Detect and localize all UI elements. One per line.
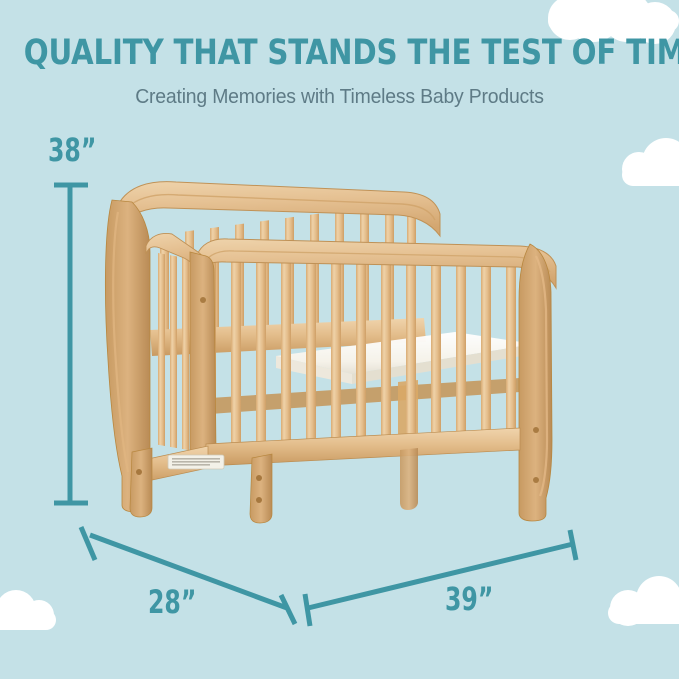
page-subtitle: Creating Memories with Timeless Baby Pro… bbox=[10, 86, 669, 109]
crib-left-end-top-rail bbox=[146, 234, 205, 279]
screw-icon bbox=[136, 469, 142, 475]
width-line bbox=[308, 544, 573, 608]
crib-leg-center-front bbox=[250, 454, 272, 523]
crib-center-support bbox=[398, 380, 418, 452]
crib-back-lower-rail bbox=[150, 318, 426, 356]
crib-left-end-slats bbox=[158, 240, 189, 460]
crib-mattress-support-rail bbox=[210, 378, 520, 414]
cloud-body bbox=[608, 602, 679, 624]
screw-icon bbox=[533, 427, 539, 433]
crib-leg-rear-center bbox=[400, 448, 418, 510]
cloud-body bbox=[622, 164, 679, 186]
product-safety-label bbox=[168, 455, 224, 469]
width-tick-left bbox=[305, 594, 310, 626]
headboard-grain bbox=[122, 195, 435, 220]
dimension-label-width: 39” bbox=[445, 580, 493, 618]
crib-right-sleigh-post bbox=[519, 244, 552, 521]
dimension-line-height bbox=[54, 185, 88, 503]
right-post-grain bbox=[536, 256, 547, 496]
screw-icon bbox=[200, 297, 206, 303]
screw-icon bbox=[256, 475, 262, 481]
screw-icon bbox=[533, 477, 539, 483]
crib-left-bottom-rail bbox=[134, 446, 208, 484]
cloud-body bbox=[548, 10, 679, 32]
dimension-label-height: 38” bbox=[48, 131, 96, 169]
width-tick-right bbox=[570, 530, 576, 560]
crib-leg-left-front bbox=[130, 448, 152, 517]
crib-front-slats-foreground bbox=[206, 244, 516, 470]
cloud-right-upper bbox=[622, 138, 679, 194]
product-safety-label-text bbox=[172, 458, 220, 466]
page-title: QUALITY THAT STANDS THE TEST OF TIME bbox=[24, 36, 655, 71]
crib-left-sleigh-post bbox=[105, 200, 150, 512]
crib-mattress bbox=[276, 332, 534, 384]
cloud-body bbox=[0, 610, 56, 630]
front-rail-grain bbox=[202, 251, 550, 272]
crib-headboard-top-rail bbox=[118, 182, 440, 236]
cloud-bottom-right bbox=[604, 576, 679, 634]
crib-front-bottom-rail bbox=[206, 428, 520, 466]
screw-icon bbox=[256, 497, 262, 503]
depth-tick-right bbox=[281, 595, 295, 624]
left-post-grain bbox=[113, 212, 128, 472]
depth-tick-left bbox=[81, 527, 95, 560]
crib-front-top-rail bbox=[196, 239, 556, 288]
cloud-bottom-left bbox=[0, 590, 58, 638]
dimension-label-depth: 28” bbox=[148, 583, 196, 621]
crib-front-slats bbox=[206, 244, 516, 470]
crib-front-left-post bbox=[190, 252, 216, 464]
crib-back-slats bbox=[160, 170, 416, 370]
crib-left-end-slats-foreground bbox=[158, 240, 189, 460]
infographic-canvas: QUALITY THAT STANDS THE TEST OF TIME Cre… bbox=[0, 0, 679, 679]
dimension-line-width bbox=[305, 530, 576, 626]
